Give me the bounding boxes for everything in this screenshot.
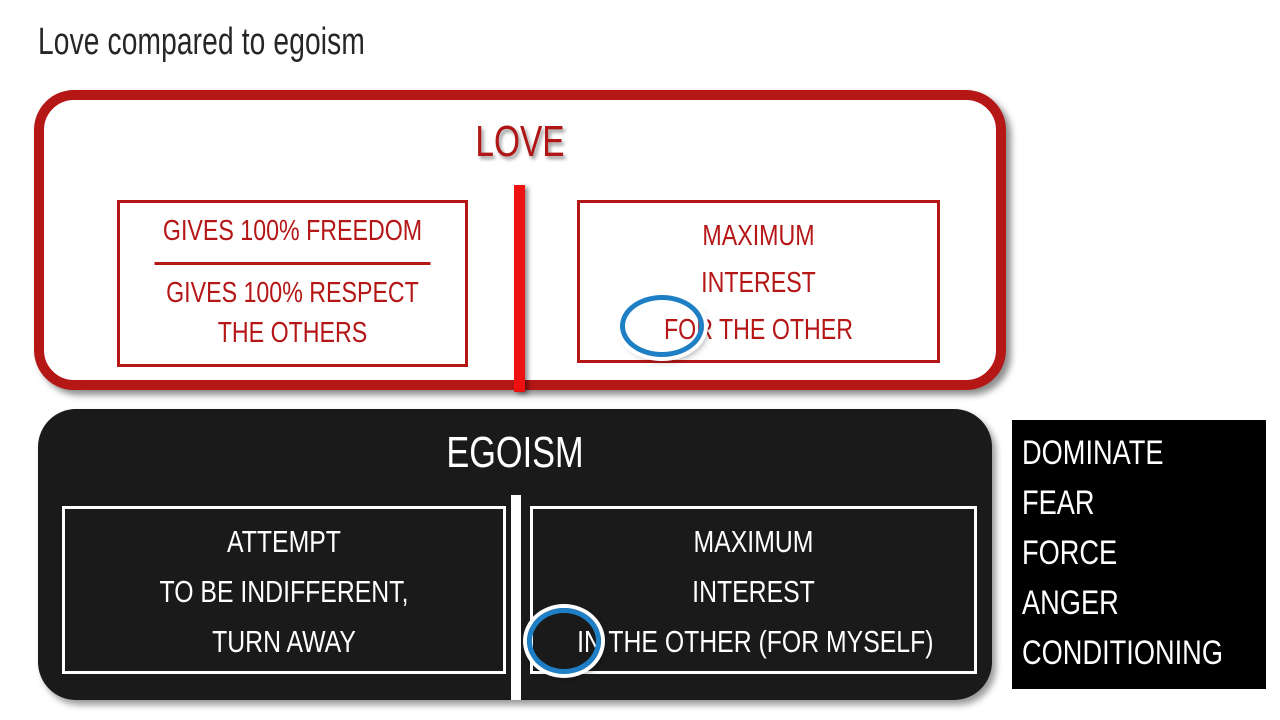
trait-item: FORCE	[1022, 528, 1217, 578]
love-right-box: MAXIMUM INTEREST FOR THE OTHER	[577, 200, 940, 363]
egoism-heading: EGOISM	[143, 429, 887, 477]
slide-canvas: Love compared to egoism LOVE GIVES 100% …	[0, 0, 1280, 720]
egoism-right-box: MAXIMUM INTEREST IN THE OTHER (FOR MYSEL…	[530, 506, 977, 674]
trait-item: DOMINATE	[1022, 428, 1217, 478]
egoism-right-line-3: IN THE OTHER (FOR MYSELF)	[577, 617, 930, 667]
trait-item: CONDITIONING	[1022, 628, 1217, 678]
love-heading: LOVE	[158, 118, 882, 166]
love-right-line-2: INTEREST	[616, 260, 902, 307]
egoism-vertical-divider	[511, 495, 521, 700]
love-vertical-divider	[514, 185, 525, 392]
egoism-left-box: ATTEMPT TO BE INDIFFERENT, TURN AWAY	[62, 506, 506, 674]
love-left-box: GIVES 100% FREEDOM GIVES 100% RESPECT TH…	[117, 200, 468, 367]
egoism-right-line-1: MAXIMUM	[577, 517, 930, 567]
egoism-left-line-1: ATTEMPT	[109, 517, 459, 567]
traits-panel: DOMINATE FEAR FORCE ANGER CONDITIONING	[1012, 420, 1266, 689]
trait-item: FEAR	[1022, 478, 1217, 528]
egoism-left-line-3: TURN AWAY	[109, 617, 459, 667]
love-right-line-3: FOR THE OTHER	[616, 307, 902, 354]
love-panel: LOVE GIVES 100% FREEDOM GIVES 100% RESPE…	[34, 90, 1006, 390]
egoism-panel: EGOISM ATTEMPT TO BE INDIFFERENT, TURN A…	[38, 409, 992, 700]
egoism-right-line-2: INTEREST	[577, 567, 930, 617]
egoism-left-line-2: TO BE INDIFFERENT,	[109, 567, 459, 617]
love-left-cell-2-line-2: THE OTHERS	[159, 313, 425, 353]
love-left-cell-2-line-1: GIVES 100% RESPECT	[159, 273, 425, 313]
love-left-cell-1: GIVES 100% FREEDOM	[155, 203, 431, 262]
love-right-line-1: MAXIMUM	[616, 213, 902, 260]
love-left-cell-2: GIVES 100% RESPECT THE OTHERS	[155, 262, 431, 364]
page-title: Love compared to egoism	[38, 20, 365, 64]
trait-item: ANGER	[1022, 578, 1217, 628]
